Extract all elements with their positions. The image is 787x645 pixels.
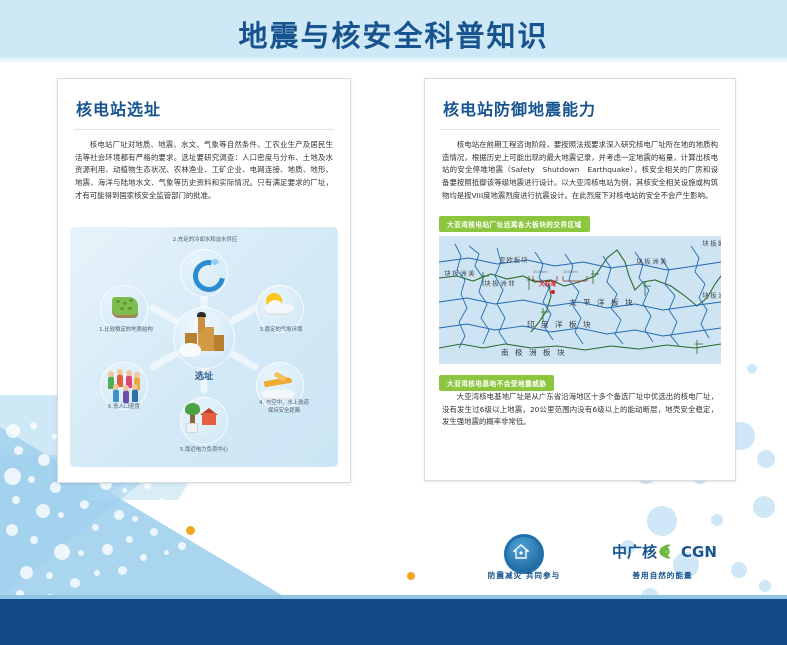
emblem-caption: 防震减灾 共同参与	[454, 570, 594, 581]
page-title: 地震与核安全科普知识	[0, 13, 787, 55]
panel-site-selection: 核电站选址 核电站厂址对地质、地震、水文、气象等自然条件、工农业生产及居民生活等…	[57, 78, 351, 483]
panel-earthquake-resistance: 核电站防御地震能力 核电站在前期工程咨询阶段，要按照法规要求深入研究核电厂址所在…	[424, 78, 736, 481]
plate-label-africa-east: 非 洲 板 块	[701, 292, 721, 299]
diagram-label-load: 5.靠近电力负荷中心	[142, 446, 266, 454]
sun-cloud-icon	[264, 304, 294, 316]
right-panel-divider	[441, 129, 719, 130]
right-panel-title: 核电站防御地震能力	[443, 96, 735, 120]
diagram-label-density: 6.低人口密度	[82, 403, 166, 411]
decor-dot	[757, 450, 775, 468]
diagram-label-weather: 3.稳定的气象环境	[234, 326, 328, 334]
cgn-brand-cn: 中广核	[612, 543, 657, 561]
plant-dome-icon	[179, 343, 201, 357]
tectonic-plate-map: 亚欧板块 美 洲 板 块 非 洲 板 块 印 度 洋 板 块 太 平 洋 板 块…	[439, 236, 721, 364]
plate-label-america-east: 美 洲 板 块	[635, 258, 667, 265]
tree-crown-icon	[185, 403, 200, 415]
people-icon	[132, 389, 138, 402]
diagram-center-label: 选址	[173, 369, 235, 382]
decor-dot	[731, 562, 747, 578]
accent-dot-orange-secondary	[407, 572, 415, 580]
decor-dot	[711, 514, 723, 526]
header-band-fade	[0, 57, 787, 64]
left-panel-body: 核电站厂址对地质、地震、水文、气象等自然条件、工农业生产及居民生活等社会环境都有…	[75, 139, 333, 203]
plant-building-icon	[214, 335, 224, 351]
cgn-swoosh-icon	[658, 543, 680, 560]
tank-icon	[186, 423, 198, 433]
cgn-logo: 中广核CGN	[612, 541, 717, 562]
left-panel-title: 核电站选址	[76, 96, 350, 120]
diagram-label-water: 2.充足的冷却水和淡水供应	[125, 236, 285, 244]
decor-dot	[759, 580, 771, 592]
plant-stack-top-icon	[197, 312, 206, 317]
right-panel-body: 核电站在前期工程咨询阶段，要按照法规要求深入研究核电厂址所在地的地质构造情况，根…	[442, 139, 718, 203]
map-distance-bracket	[531, 274, 589, 284]
plate-label-antarctic: 南 极 洲 板 块	[501, 348, 567, 357]
diagram-label-geology: 1.比较稳定的地质结构	[78, 326, 174, 334]
house-tree-icon	[202, 413, 216, 425]
water-drop-icon	[187, 254, 232, 299]
map-site-marker-dot	[551, 290, 555, 294]
footer-bar	[0, 599, 787, 645]
plate-label-eurasia-west: 亚欧板块	[499, 256, 529, 264]
plate-label-america-west: 美 洲 板 块	[443, 270, 475, 277]
people-icon	[123, 390, 129, 403]
poster-canvas: 地震与核安全科普知识 核电站选址 核电站厂址对地质、地震、水文、气象等自然条件、…	[0, 0, 787, 645]
decor-dot	[753, 496, 775, 518]
people-icon	[113, 389, 119, 402]
island-icon	[112, 297, 138, 315]
shelter-house-icon	[513, 544, 529, 559]
right-panel-bottom-body: 大亚湾核电基地厂址是从广东省沿海地区十多个备选厂址中优选出的核电厂址，没有发生过…	[442, 391, 718, 429]
left-panel-divider	[74, 129, 334, 130]
diagram-label-route: 4. 与空中、水上航道 保持安全距离	[236, 399, 332, 415]
cgn-caption: 善用自然的能量	[600, 570, 725, 581]
plate-label-africa-west: 非 洲 板 块	[483, 280, 515, 287]
cgn-brand-en: CGN	[681, 543, 717, 561]
site-selection-diagram: 2.充足的冷却水和淡水供应 1.比较稳定的地质结构 3.稳定的气象环境	[70, 227, 338, 467]
plant-stack-icon	[198, 315, 205, 331]
map-tag-bottom: 大亚湾核电基地不会受地震威胁	[439, 375, 554, 391]
map-tag-top: 大亚湾核电站厂址远离各大板块的交界区域	[439, 216, 590, 232]
diagram-node-water[interactable]	[180, 249, 228, 297]
decor-dot	[747, 364, 757, 374]
plate-label-eurasia-east: 亚 欧 板 块	[701, 240, 721, 247]
accent-dot-orange	[186, 526, 195, 535]
disaster-prevention-emblem	[504, 534, 540, 570]
diagram-node-load[interactable]	[180, 397, 228, 445]
plate-label-pacific: 太 平 洋 板 块	[569, 298, 635, 307]
decor-dot	[647, 506, 677, 536]
diagram-node-center[interactable]	[173, 307, 235, 369]
plate-label-indian: 印 度 洋 板 块	[527, 320, 593, 329]
